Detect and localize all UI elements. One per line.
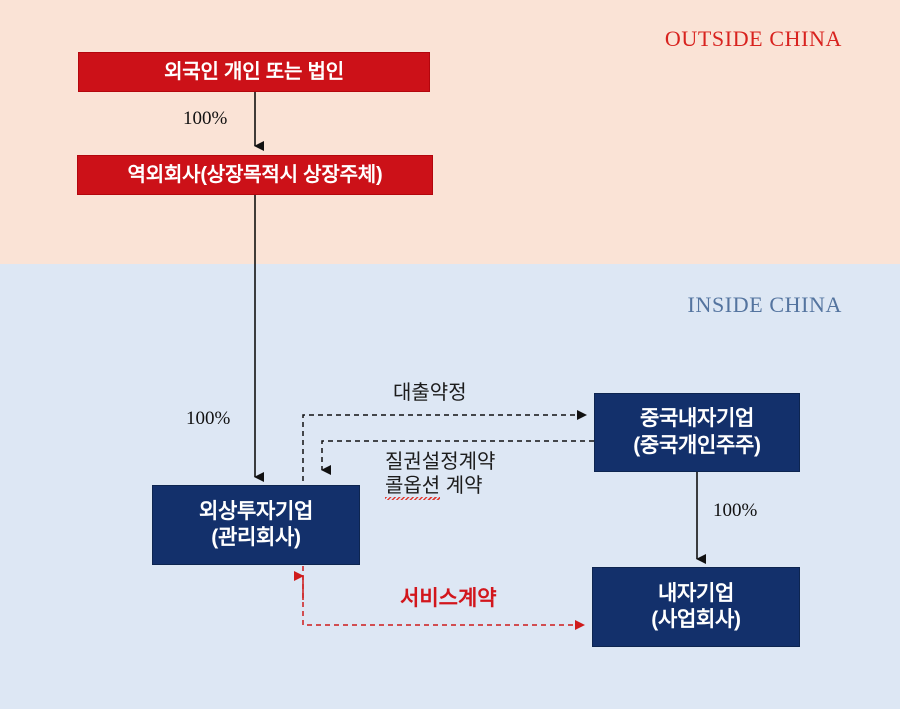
entity-box-wfoe-management-company[interactable]: 외상투자기업 (관리회사)	[152, 485, 360, 565]
entity-label-line1: 외상투자기업	[199, 499, 313, 525]
entity-box-chinese-domestic-shareholder[interactable]: 중국내자기업 (중국개인주주)	[594, 393, 800, 472]
entity-label-line1: 내자기업	[658, 581, 734, 607]
region-label-outside-china: OUTSIDE CHINA	[665, 26, 842, 52]
entity-label-line2: (관리회사)	[211, 525, 300, 551]
connector-label-ownership-right: 100%	[713, 500, 757, 523]
entity-label-line1: 중국내자기업	[640, 406, 754, 432]
connector-label-pledge-call-option: 질권설정계약 콜옵션 계약	[385, 450, 495, 498]
spellcheck-underlined-term: 콜옵션	[385, 474, 440, 498]
entity-box-domestic-operating-company[interactable]: 내자기업 (사업회사)	[592, 567, 800, 647]
vie-structure-diagram: OUTSIDE CHINA INSIDE CHINA	[0, 0, 900, 709]
entity-label-line2: (사업회사)	[651, 607, 740, 633]
connector-label-ownership-top: 100%	[183, 108, 227, 131]
region-label-inside-china: INSIDE CHINA	[688, 292, 842, 318]
pledge-label-line2: 콜옵션 계약	[385, 474, 495, 498]
pledge-label-line2-rest: 계약	[440, 475, 482, 497]
entity-label-line1: 외국인 개인 또는 법인	[164, 60, 344, 85]
entity-box-foreign-individual-or-corporation[interactable]: 외국인 개인 또는 법인	[78, 52, 430, 92]
entity-label-line1: 역외회사(상장목적시 상장주체)	[128, 163, 383, 188]
connector-label-service-agreement: 서비스계약	[400, 586, 497, 611]
connector-label-loan-agreement: 대출약정	[393, 381, 467, 405]
entity-label-line2: (중국개인주주)	[633, 433, 761, 459]
connector-label-ownership-mid: 100%	[186, 408, 230, 431]
entity-box-offshore-company[interactable]: 역외회사(상장목적시 상장주체)	[77, 155, 433, 195]
pledge-label-line1: 질권설정계약	[385, 450, 495, 474]
